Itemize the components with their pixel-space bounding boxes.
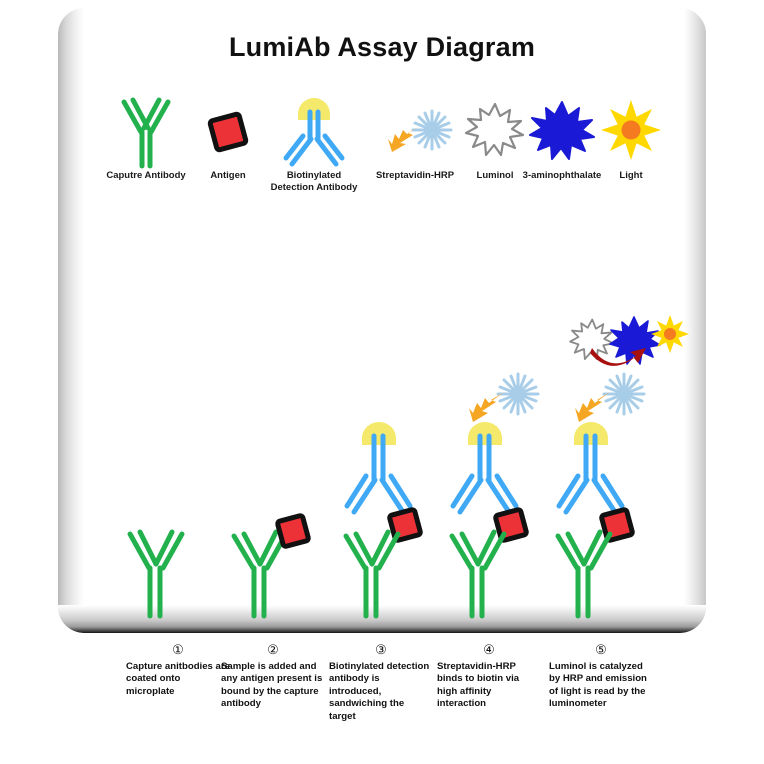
step-number: ②	[221, 642, 325, 658]
antigen-icon	[188, 92, 268, 170]
step-text: Sample is added and any antigen present …	[221, 661, 325, 711]
legend-item-aminophthalate: 3-aminophthalate	[518, 92, 606, 182]
legend-label: Light	[602, 170, 660, 182]
step-text: Biotinylated detection antibody is intro…	[329, 661, 433, 723]
plate-left-edge	[58, 8, 84, 633]
step-text: Streptavidin-HRP binds to biotin via hig…	[437, 661, 541, 711]
step-caption-4: ④ Streptavidin-HRP binds to biotin via h…	[437, 642, 541, 711]
step-caption-2: ② Sample is added and any antigen presen…	[221, 642, 325, 711]
legend-label: Antigen	[188, 170, 268, 182]
step-number: ①	[126, 642, 230, 658]
legend-item-antigen: Antigen	[188, 92, 268, 182]
plate-right-edge	[684, 8, 706, 633]
stage-4-graphic	[436, 370, 556, 620]
stage-2-graphic	[222, 508, 322, 620]
legend-item-capture-antibody: Caputre Antibody	[100, 92, 192, 182]
detection-antibody-icon	[264, 92, 364, 170]
page-title: LumiAb Assay Diagram	[0, 32, 764, 63]
legend-item-detection-antibody: Biotinylated Detection Antibody	[264, 92, 364, 193]
step-text: Luminol is catalyzed by HRP and emission…	[549, 661, 653, 711]
stage-5-reaction-graphic	[566, 312, 684, 384]
aminophthalate-icon	[518, 92, 606, 170]
step-number: ⑤	[549, 642, 653, 658]
step-caption-1: ① Capture anitbodies are coated onto mic…	[126, 642, 230, 698]
capture-antibody-icon	[100, 92, 192, 170]
step-text: Capture anitbodies are coated onto micro…	[126, 661, 230, 698]
step-number: ④	[437, 642, 541, 658]
streptavidin-hrp-icon	[368, 92, 462, 170]
stage-1-graphic	[116, 520, 196, 620]
legend-label: Biotinylated Detection Antibody	[264, 170, 364, 193]
legend-item-light: Light	[602, 92, 660, 182]
stage-3-graphic	[330, 418, 440, 620]
legend-label: Streptavidin-HRP	[368, 170, 462, 182]
stage-5-graphic	[542, 370, 672, 620]
step-caption-3: ③ Biotinylated detection antibody is int…	[329, 642, 433, 723]
assay-diagram: LumiAb Assay Diagram Caputre Antibody An…	[0, 0, 764, 764]
plate-top-edge	[58, 8, 706, 17]
step-caption-5: ⑤ Luminol is catalyzed by HRP and emissi…	[549, 642, 653, 711]
light-icon	[651, 315, 689, 353]
legend-label: 3-aminophthalate	[518, 170, 606, 182]
light-icon	[602, 92, 660, 170]
legend-item-streptavidin-hrp: Streptavidin-HRP	[368, 92, 462, 182]
step-number: ③	[329, 642, 433, 658]
legend-label: Caputre Antibody	[100, 170, 192, 182]
